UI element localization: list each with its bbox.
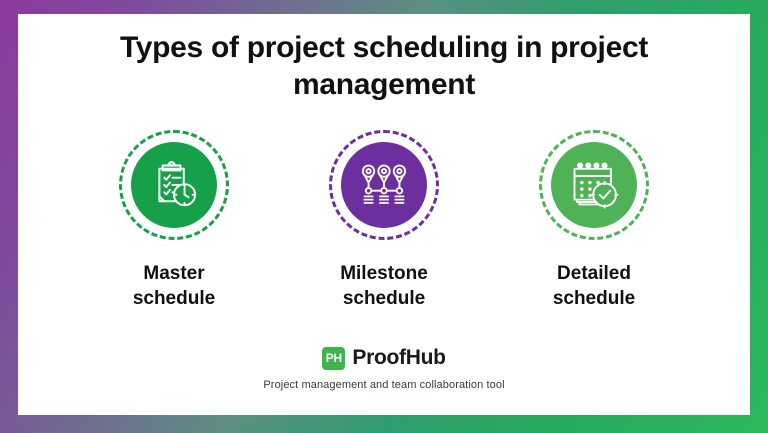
card-master-schedule[interactable]: Master schedule bbox=[99, 130, 249, 311]
proofhub-wordmark: ProofHub bbox=[352, 346, 445, 370]
card-label-detailed: Detailed schedule bbox=[553, 262, 635, 311]
card-detailed-schedule[interactable]: Detailed schedule bbox=[519, 130, 669, 311]
proofhub-tagline: Project management and team collaboratio… bbox=[263, 379, 504, 391]
card-label-master: Master schedule bbox=[133, 262, 215, 311]
milestone-pins-timeline-icon bbox=[358, 159, 410, 211]
infographic-slide: Types of project scheduling in project m… bbox=[0, 0, 768, 433]
icon-ring-master bbox=[119, 130, 229, 240]
card-milestone-schedule[interactable]: Milestone schedule bbox=[309, 130, 459, 311]
card-label-milestone: Milestone schedule bbox=[340, 262, 428, 311]
proofhub-logo[interactable]: PH ProofHub bbox=[322, 346, 445, 370]
content-canvas: Types of project scheduling in project m… bbox=[18, 14, 750, 415]
icon-ring-milestone bbox=[329, 130, 439, 240]
clipboard-checklist-clock-icon bbox=[148, 159, 200, 211]
footer-branding: PH ProofHub Project management and team … bbox=[18, 346, 750, 391]
calendar-clock-check-icon bbox=[568, 159, 620, 211]
schedule-types-row: Master schedule bbox=[18, 130, 750, 311]
proofhub-badge-icon: PH bbox=[322, 347, 345, 370]
page-title: Types of project scheduling in project m… bbox=[18, 30, 750, 103]
icon-ring-detailed bbox=[539, 130, 649, 240]
